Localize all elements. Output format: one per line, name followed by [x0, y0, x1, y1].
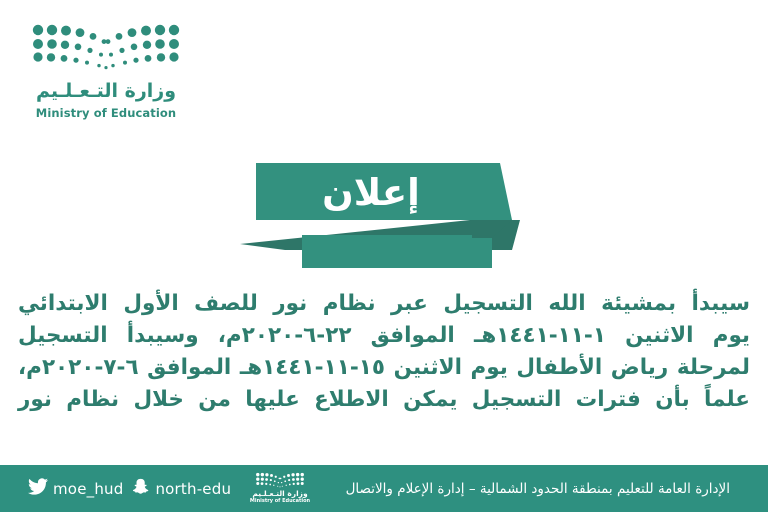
moe-palm-dots-logo	[30, 22, 182, 74]
announcement-line-2: يوم الاثنين ١-١١-١٤٤١هـ الموافق ٢٢-٦-٢٠٢…	[18, 320, 750, 352]
announcement-line-3: لمرحلة رياض الأطفال يوم الاثنين ١٥-١١-١٤…	[18, 352, 750, 384]
announcement-poster: وزارة التـعـلـيم Ministry of Education إ…	[0, 0, 768, 512]
announcement-body: سيبدأ بمشيئة الله التسجيل عبر نظام نور ل…	[18, 288, 750, 416]
banner-label: إعلان	[240, 164, 502, 222]
moe-logo-arabic-name: وزارة التـعـلـيم	[26, 78, 186, 104]
moe-logo: وزارة التـعـلـيم Ministry of Education	[22, 22, 212, 130]
announcement-line-4: علماً بأن فترات التسجيل يمكن الاطلاع علي…	[18, 384, 750, 416]
moe-logo-english-name: Ministry of Education	[26, 106, 186, 120]
footer-department: الإدارة العامة للتعليم بمنطقة الحدود الش…	[0, 465, 750, 512]
announcement-line-1: سيبدأ بمشيئة الله التسجيل عبر نظام نور ل…	[18, 288, 750, 320]
ribbon-lower-tab	[302, 235, 492, 268]
footer-bar: moe_hud north-edu	[0, 465, 768, 512]
announcement-banner: إعلان	[240, 158, 530, 270]
footer-department-text: الإدارة العامة للتعليم بمنطقة الحدود الش…	[346, 481, 730, 497]
